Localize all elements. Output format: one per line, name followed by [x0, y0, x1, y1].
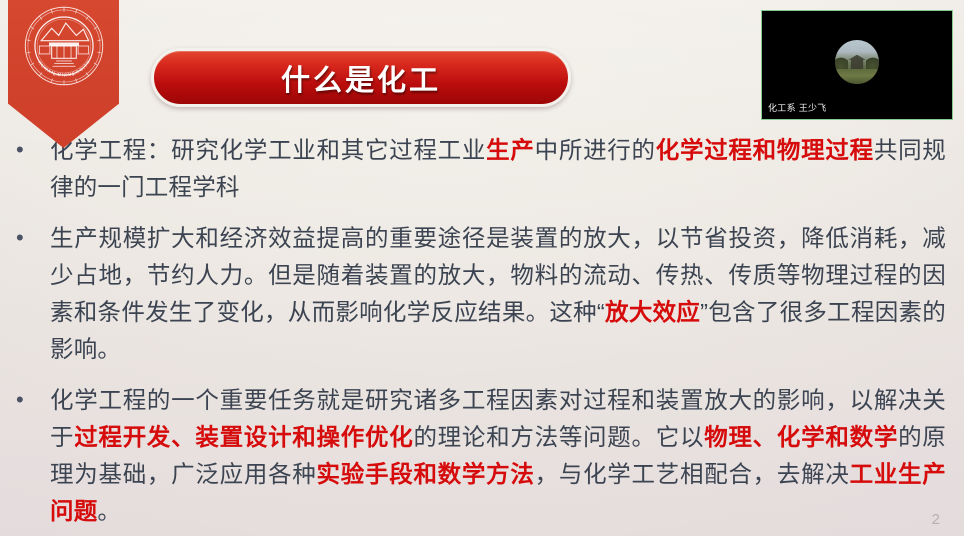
highlighted-run: 生产: [486, 137, 534, 163]
bullet-text: 化学工程的一个重要任务就是研究诸多工程因素对过程和装置放大的影响，以解决关于过程…: [50, 382, 950, 530]
bullet-text: 生产规模扩大和经济效益提高的重要途径是装置的放大，以节省投资，降低消耗，减少占地…: [50, 220, 950, 368]
university-ribbon-banner: HUNAN UNIVERSITY EST. 1926: [8, 0, 119, 148]
seal-founded-text: EST. 1926: [53, 73, 74, 77]
bullet-marker-icon: •: [14, 220, 50, 256]
slide-title-banner: 什么是化工: [151, 48, 571, 107]
bullet-marker-icon: •: [14, 382, 50, 418]
bullet-text: 化学工程：研究化学工业和其它过程工业生产中所进行的化学过程和物理过程共同规律的一…: [50, 132, 950, 206]
bullet-item: • 化学工程的一个重要任务就是研究诸多工程因素对过程和装置放大的影响，以解决关于…: [0, 382, 964, 530]
highlighted-run: 实验手段和数学方法: [317, 461, 535, 487]
university-seal-icon: HUNAN UNIVERSITY EST. 1926: [20, 2, 108, 90]
presentation-slide: HUNAN UNIVERSITY EST. 1926 什么是化工 化工系 王少飞…: [0, 0, 964, 536]
highlighted-run: 物理、化学和数学: [704, 424, 898, 450]
presenter-name-label: 化工系 王少飞: [768, 101, 827, 114]
plain-run: 化学工程：研究化学工业和其它过程工业: [50, 137, 486, 163]
bullet-marker-icon: •: [14, 132, 50, 168]
presenter-video-thumbnail[interactable]: 化工系 王少飞: [761, 10, 953, 120]
plain-run: 的理论和方法等问题。它以: [413, 424, 704, 450]
highlighted-run: 过程开发、装置设计和操作优化: [74, 424, 413, 450]
bullet-item: • 化学工程：研究化学工业和其它过程工业生产中所进行的化学过程和物理过程共同规律…: [0, 132, 964, 206]
page-number: 2: [932, 511, 940, 528]
plain-run: ，与化学工艺相配合，去解决: [535, 461, 850, 487]
slide-body: • 化学工程：研究化学工业和其它过程工业生产中所进行的化学过程和物理过程共同规律…: [0, 132, 964, 536]
bullet-item: • 生产规模扩大和经济效益提高的重要途径是装置的放大，以节省投资，降低消耗，减少…: [0, 220, 964, 368]
avatar-pavilion-icon: [849, 55, 866, 70]
highlighted-run: 化学过程和物理过程: [656, 137, 874, 163]
plain-run: 中所进行的: [535, 137, 656, 163]
highlighted-run: 放大效应: [605, 299, 700, 325]
avatar-ground: [835, 69, 879, 84]
plain-run: 。: [97, 498, 121, 524]
presenter-avatar: [835, 40, 879, 84]
page-title: 什么是化工: [281, 57, 441, 99]
